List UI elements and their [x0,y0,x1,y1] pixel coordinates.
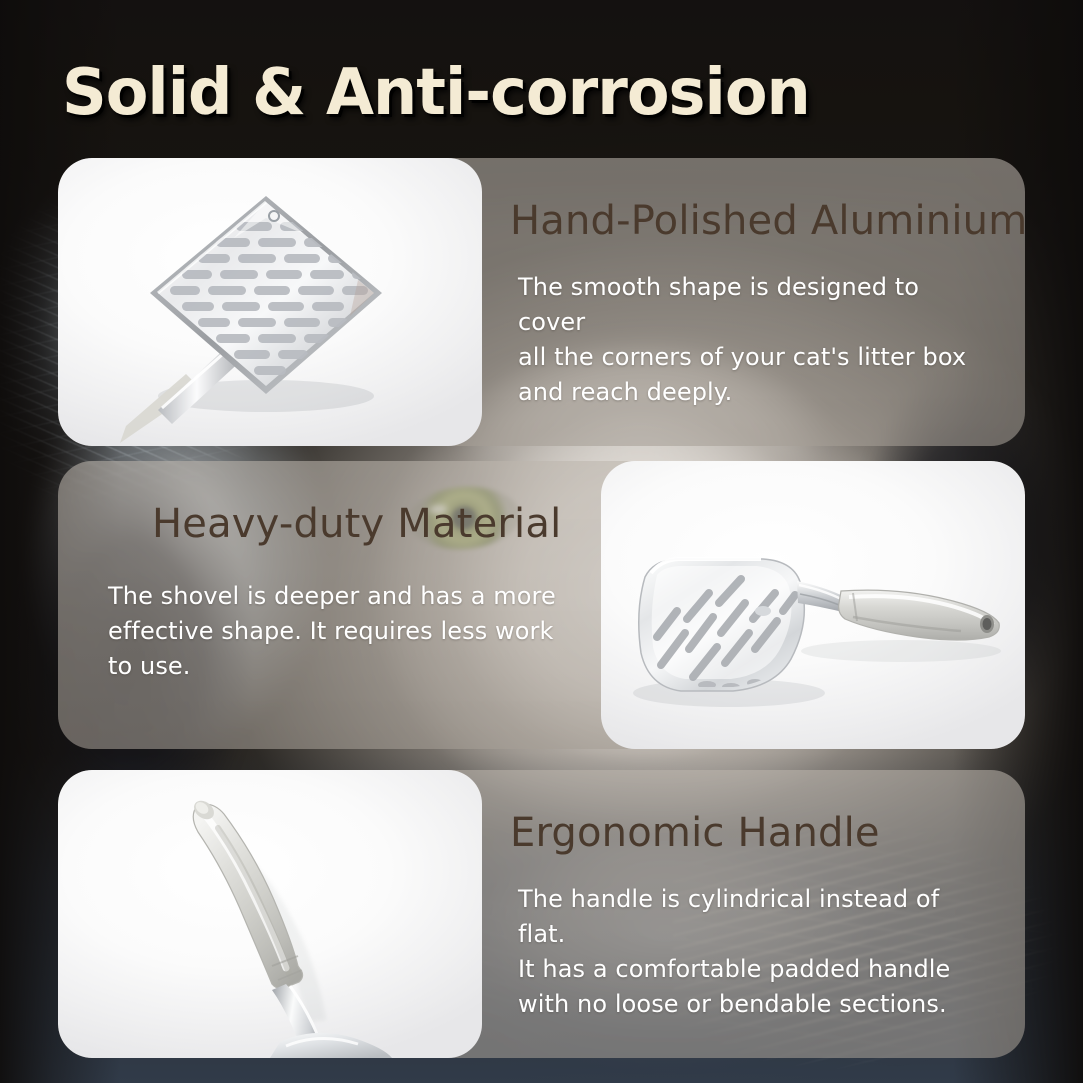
feature-title: Ergonomic Handle [510,810,989,856]
page-title: Solid & Anti-corrosion [62,56,810,130]
feature-title: Hand-Polished Aluminium [510,198,989,244]
feature-text-heavy-duty-material: Heavy-duty Material The shovel is deeper… [58,461,601,749]
feature-body: The shovel is deeper and has a more effe… [102,579,573,684]
feature-panel-heavy-duty-material: Heavy-duty Material The shovel is deeper… [58,461,1025,749]
feature-title: Heavy-duty Material [102,501,573,547]
feature-body: The handle is cylindrical instead of fla… [510,882,989,1022]
product-image-handle-closeup [58,770,482,1058]
feature-panel-ergonomic-handle: Ergonomic Handle The handle is cylindric… [58,770,1025,1058]
product-photo-card-handle-closeup [58,770,482,1058]
product-photo-card-scoop-head [58,158,482,446]
product-image-full-scoop [601,461,1025,749]
feature-panel-hand-polished-aluminium: Hand-Polished Aluminium The smooth shape… [58,158,1025,446]
feature-text-hand-polished-aluminium: Hand-Polished Aluminium The smooth shape… [482,158,1025,446]
product-photo-card-full-scoop [601,461,1025,749]
feature-text-ergonomic-handle: Ergonomic Handle The handle is cylindric… [482,770,1025,1058]
feature-body: The smooth shape is designed to cover al… [510,270,989,410]
product-image-diamond-scoop-head [58,158,482,446]
